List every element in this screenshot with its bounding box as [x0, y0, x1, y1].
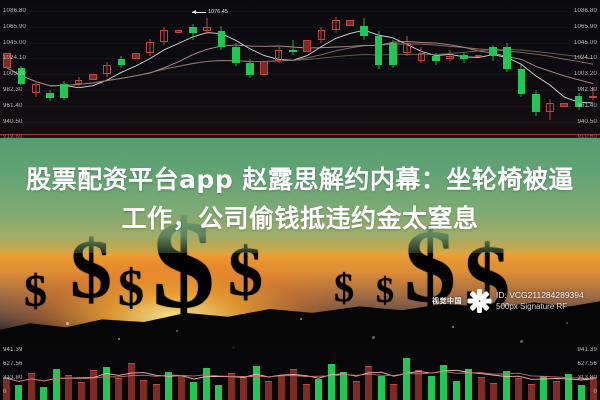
- candlestick: [218, 26, 226, 51]
- candle-body: [103, 65, 111, 74]
- visual-china-starburst-icon: [466, 288, 492, 314]
- candle-body: [503, 47, 511, 69]
- candlestick: [275, 47, 283, 63]
- candlestick: [175, 21, 183, 36]
- candlestick: [318, 27, 326, 43]
- price-axis-label-left: 940.50: [3, 119, 23, 125]
- candle-body: [75, 80, 83, 84]
- candlestick: [203, 18, 211, 34]
- candle-body: [589, 96, 597, 98]
- watermark: 视觉中国 ID: VCG211284289394 500px Signature…: [432, 288, 584, 314]
- candle-body: [560, 103, 568, 107]
- candle-body: [389, 43, 397, 65]
- candlestick: [532, 90, 540, 116]
- candlestick: [446, 50, 454, 62]
- price-axis-label-right: 1003.20: [574, 71, 597, 77]
- price-axis-label-left: 1003.20: [3, 71, 26, 77]
- candle-body: [546, 103, 554, 112]
- volume-axis-label-left: 941.39: [3, 347, 23, 353]
- candlestick: [160, 27, 168, 45]
- candle-body: [460, 55, 468, 59]
- light-speck: [452, 326, 454, 328]
- candle-body: [289, 50, 297, 52]
- candle-body: [432, 56, 440, 60]
- light-speck: [566, 322, 568, 324]
- price-axis-label-left: 1045.00: [3, 40, 26, 46]
- price-axis-label-right: 961.40: [577, 103, 597, 109]
- light-speck: [372, 336, 375, 339]
- watermark-license: 500px Signature RF: [496, 302, 567, 311]
- candlestick: [375, 31, 383, 69]
- candle-body: [403, 43, 411, 53]
- price-axis-label-right: 1086.80: [574, 8, 597, 14]
- candle-body: [246, 63, 254, 75]
- candlestick: [75, 77, 83, 89]
- price-axis-label-left: 1024.10: [3, 55, 26, 61]
- candle-body: [175, 30, 183, 33]
- candlestick: [103, 62, 111, 77]
- volume-axis-label-left: 0: [3, 389, 7, 395]
- candlestick: [189, 24, 197, 40]
- candle-body: [132, 53, 140, 59]
- price-axis-label-right: 940.50: [577, 119, 597, 125]
- dollar-sign-silhouette-7: $: [376, 276, 394, 306]
- image-root: $ $ $ $ $ $ $ $ $ 1076.45 1086.801086.80…: [0, 0, 600, 400]
- candle-body: [60, 84, 68, 99]
- headline-line-1: 股票配资平台app 赵露思解约内幕：坐轮椅被逼: [26, 165, 574, 194]
- candle-body: [418, 53, 426, 60]
- candle-body: [446, 56, 454, 59]
- candlestick: [118, 56, 126, 68]
- volume-axis-label-left: 313.80: [3, 375, 23, 381]
- price-axis-label-right: 982.30: [577, 87, 597, 93]
- annotation-arrow-icon: [192, 12, 206, 13]
- candle-body: [203, 27, 211, 31]
- price-axis-label-left: 1065.90: [3, 24, 26, 30]
- price-candlestick-chart: 1076.45 1086.801086.801065.901065.901045…: [0, 0, 600, 140]
- candle-wick: [178, 21, 179, 36]
- candle-body: [360, 26, 368, 36]
- candlestick: [389, 40, 397, 68]
- candlestick: [60, 81, 68, 100]
- price-axis-label-right: 1045.00: [574, 40, 597, 46]
- candlestick: [560, 97, 568, 110]
- candlestick: [289, 40, 297, 55]
- candle-body: [218, 31, 226, 47]
- candlestick: [346, 12, 354, 28]
- price-axis-label-left: 982.30: [3, 87, 23, 93]
- watermark-text: ID: VCG211284289394 500px Signature RF: [496, 290, 584, 312]
- light-speck: [66, 322, 69, 325]
- candle-body: [332, 20, 340, 30]
- candlestick: [132, 50, 140, 62]
- light-speck: [520, 340, 523, 343]
- candle-body: [232, 47, 240, 63]
- candle-body: [46, 93, 54, 99]
- dollar-sign-silhouette-6: $: [334, 272, 354, 305]
- candlestick: [475, 47, 483, 59]
- price-annotation: 1076.45: [192, 9, 228, 15]
- candle-body: [160, 30, 168, 42]
- candlestick: [303, 37, 311, 55]
- headline-text: 股票配资平台app 赵露思解约内幕：坐轮椅被逼 工作，公司偷钱抵违约金太窒息: [0, 160, 600, 238]
- volume-average-line: [0, 344, 600, 400]
- candle-wick: [478, 47, 479, 59]
- volume-axis-label-right: 941.39: [577, 347, 597, 353]
- annotation-value: 1076.45: [208, 9, 228, 15]
- volume-axis-label-right: 0: [593, 389, 597, 395]
- candle-body: [475, 55, 483, 57]
- price-axis-label-right: 1024.10: [574, 55, 597, 61]
- price-axis-label-right: 1065.90: [574, 24, 597, 30]
- candlestick: [546, 99, 554, 121]
- candlestick: [360, 18, 368, 40]
- candle-body: [303, 40, 311, 52]
- watermark-brand-cn: 视觉中国: [432, 296, 462, 306]
- candle-body: [275, 50, 283, 60]
- candlestick: [518, 65, 526, 97]
- volume-axis-label-left: 627.56: [3, 361, 23, 367]
- candlestick: [432, 53, 440, 65]
- dollar-sign-silhouette-3: $: [118, 268, 144, 311]
- volume-bar-chart: 941.39941.39627.56627.56313.80313.8000: [0, 344, 600, 400]
- light-speck: [176, 330, 178, 332]
- candle-body: [89, 74, 97, 80]
- candlestick: [489, 45, 497, 61]
- candlestick: [46, 90, 54, 102]
- candlestick: [460, 52, 468, 64]
- candlestick: [503, 43, 511, 72]
- candle-body: [532, 94, 540, 112]
- candle-body: [189, 27, 197, 33]
- candlestick: [246, 59, 254, 78]
- price-threshold-line: [0, 134, 600, 135]
- volume-axis-label-right: 313.80: [577, 375, 597, 381]
- dollar-sign-silhouette-1: $: [24, 272, 47, 310]
- candlestick: [32, 81, 40, 97]
- watermark-id: ID: VCG211284289394: [496, 290, 584, 300]
- light-speck: [118, 338, 120, 340]
- candle-wick: [292, 40, 293, 55]
- volume-axis-label-right: 627.56: [577, 361, 597, 367]
- candle-body: [375, 36, 383, 65]
- candle-body: [518, 69, 526, 94]
- price-axis-label-left: 961.40: [3, 103, 23, 109]
- candlestick: [260, 58, 268, 80]
- candlestick: [89, 71, 97, 83]
- candle-body: [146, 42, 154, 54]
- candlestick: [146, 39, 154, 57]
- light-speck: [300, 318, 302, 320]
- candle-body: [32, 84, 40, 93]
- price-axis-label-left: 1086.80: [3, 8, 26, 14]
- candle-body: [318, 30, 326, 40]
- candlestick: [403, 36, 411, 56]
- candlestick: [232, 43, 240, 66]
- candle-body: [118, 59, 126, 65]
- candlestick: [332, 17, 340, 33]
- headline-line-2: 工作，公司偷钱抵违约金太窒息: [0, 199, 600, 238]
- candlestick: [418, 47, 426, 63]
- candle-body: [260, 61, 268, 76]
- candle-body: [489, 47, 497, 56]
- candle-body: [346, 20, 354, 26]
